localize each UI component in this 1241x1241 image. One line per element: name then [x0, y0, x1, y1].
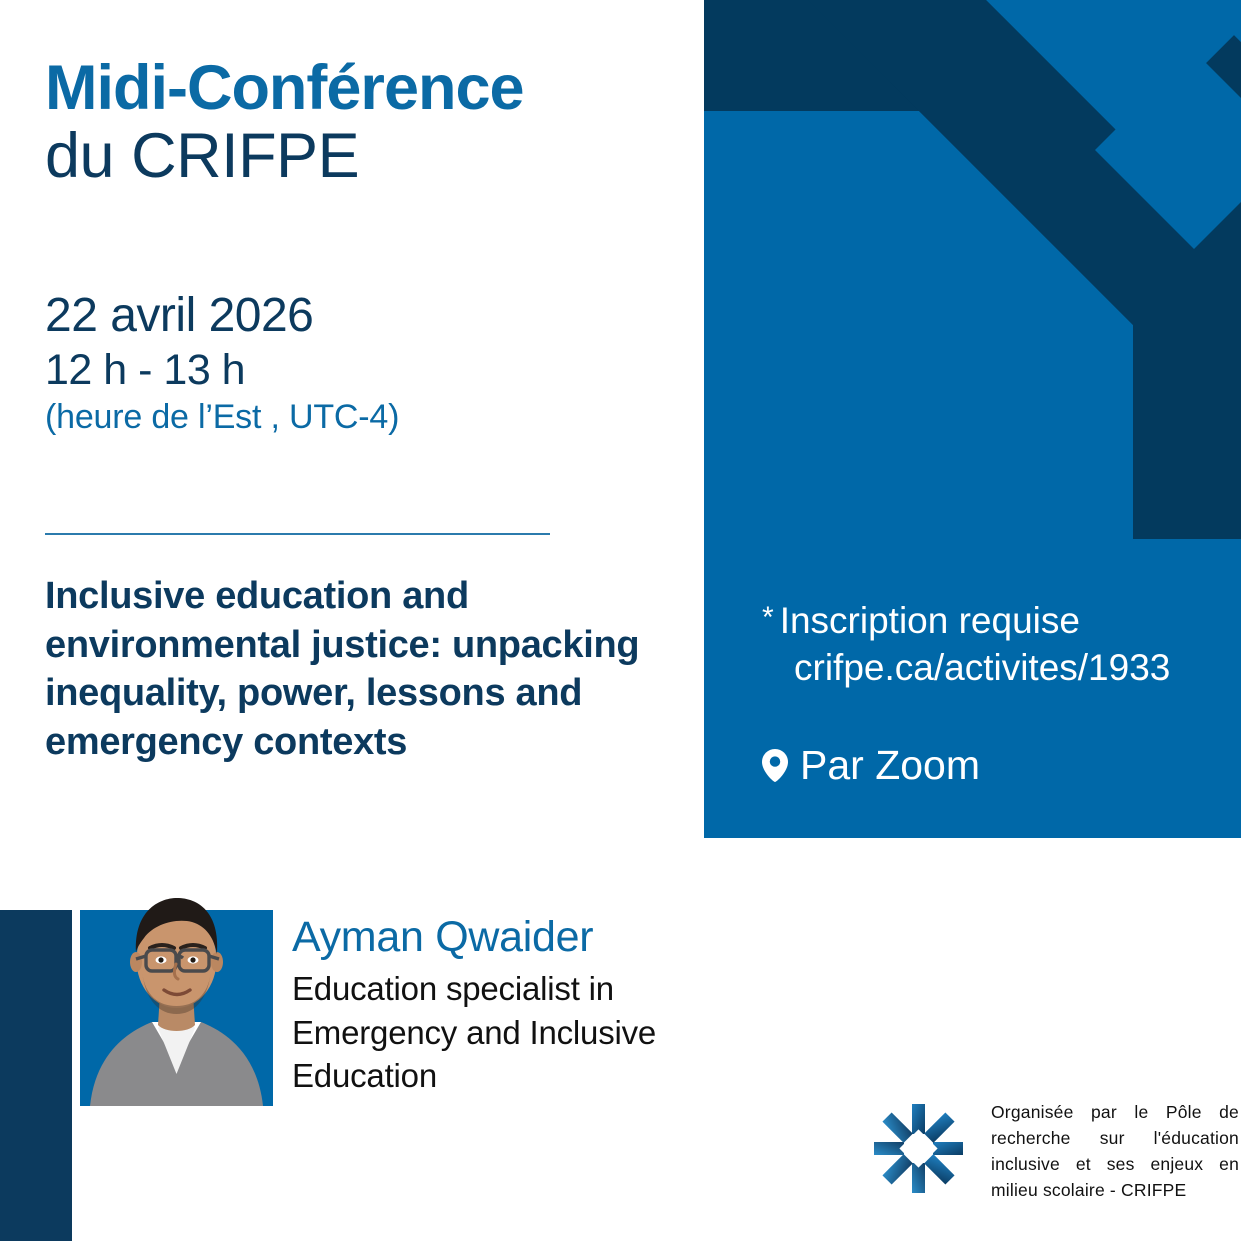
speaker-block: Ayman Qwaider Education specialist in Em…	[292, 913, 742, 1098]
talk-title: Inclusive education and environmental ju…	[45, 572, 670, 767]
registration-url[interactable]: crifpe.ca/activites/1933	[794, 644, 1232, 692]
registration-required-line: *Inscription requise	[762, 598, 1232, 644]
left-navy-accent-bar	[0, 910, 72, 1241]
event-datetime-block: 22 avril 2026 12 h - 13 h (heure de l’Es…	[45, 288, 685, 439]
crifpe-starburst-logo-icon	[862, 1092, 975, 1210]
event-location-label: Par Zoom	[800, 745, 980, 786]
event-date: 22 avril 2026	[45, 288, 685, 345]
avatar	[80, 868, 273, 1106]
geometric-decoration-panel	[704, 0, 1241, 838]
asterisk-icon: *	[762, 601, 774, 634]
speaker-photo-frame	[80, 910, 273, 1106]
registration-block: *Inscription requise crifpe.ca/activites…	[762, 598, 1232, 692]
title-line-du-crifpe: du CRIFPE	[45, 122, 685, 190]
map-pin-icon	[762, 749, 788, 783]
speaker-name: Ayman Qwaider	[292, 913, 742, 961]
event-timezone: (heure de l’Est , UTC-4)	[45, 396, 685, 439]
footer-organizer-block: Organisée par le Pôle de recherche sur l…	[862, 1092, 1239, 1210]
organizer-text: Organisée par le Pôle de recherche sur l…	[991, 1099, 1239, 1204]
event-poster: Midi-Conférence du CRIFPE 22 avril 2026 …	[0, 0, 1241, 1241]
title-line-midi-conference: Midi-Conférence	[45, 54, 685, 122]
page-title: Midi-Conférence du CRIFPE	[45, 54, 685, 190]
divider-rule	[45, 533, 550, 535]
registration-required-label: Inscription requise	[780, 600, 1080, 641]
speaker-role: Education specialist in Emergency and In…	[292, 967, 742, 1098]
event-time: 12 h - 13 h	[45, 345, 685, 397]
event-location-line: Par Zoom	[762, 745, 980, 786]
